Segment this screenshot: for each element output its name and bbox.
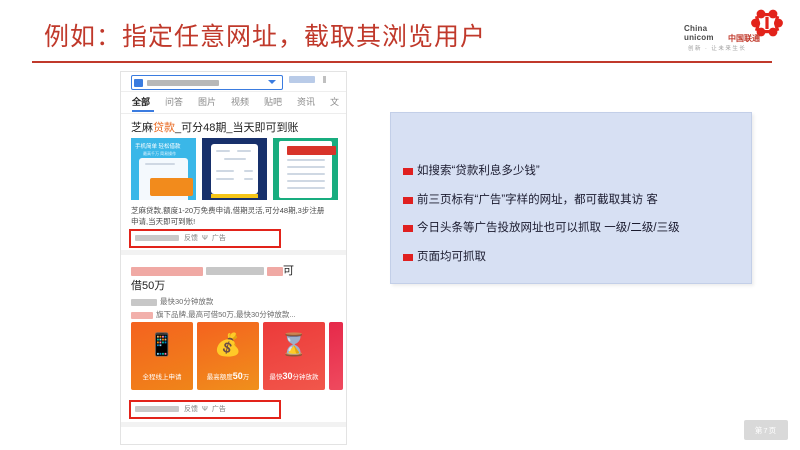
result-2-title-redacted-b bbox=[206, 267, 264, 275]
thumbnail-3-ribbon bbox=[287, 146, 336, 155]
tab-all[interactable]: 全部 bbox=[132, 95, 150, 108]
thumbnail-3-card bbox=[279, 141, 332, 198]
bullet-item-1: 前三页标有“广告”字样的网址，都可截取其访 客 bbox=[403, 193, 658, 207]
promo-card-4-partial[interactable] bbox=[329, 322, 343, 390]
bullet-text-1: 前三页标有“广告”字样的网址，都可截取其访 客 bbox=[417, 193, 658, 207]
mobile-search-bar bbox=[121, 72, 346, 92]
result-1-title[interactable]: 芝麻贷款_可分48期_当天即可到账 bbox=[131, 119, 298, 135]
result-divider-2 bbox=[121, 422, 346, 427]
logo-text-en: China unicom bbox=[684, 24, 714, 42]
tab-video[interactable]: 视频 bbox=[231, 95, 249, 108]
promo-card-2-amount: 50 bbox=[233, 371, 243, 381]
promo-card-3-label: 最快30分钟放款 bbox=[263, 371, 325, 381]
result-2-sub-line2-text: 旗下品牌,最高可借50万,最快30分钟放款... bbox=[156, 310, 296, 319]
bullet-marker-icon bbox=[403, 168, 413, 175]
tab-news[interactable]: 资讯 bbox=[297, 95, 315, 108]
promo-card-1[interactable]: 📱 全程线上申请 bbox=[131, 322, 193, 390]
bullet-text-2: 今日头条等广告投放网址也可以抓取 一级/二级/三级 bbox=[417, 221, 680, 235]
search-query-redacted bbox=[147, 80, 219, 86]
hourglass-icon: ⌛ bbox=[280, 334, 307, 356]
thumbnail-2-band bbox=[211, 194, 258, 198]
thumbnail-2[interactable] bbox=[202, 138, 267, 200]
thumbnail-1-sub: 最高千万 简易操作 bbox=[143, 151, 176, 157]
promo-card-2[interactable]: 💰 最高额度50万 bbox=[197, 322, 259, 390]
result-1-title-keyword: 贷款 bbox=[153, 122, 175, 134]
promo-card-2-label: 最高额度50万 bbox=[197, 371, 259, 381]
ad-label-highlight-box-1: 反馈Ψ广告 bbox=[129, 229, 281, 248]
ad-separator-1: Ψ bbox=[202, 235, 208, 242]
result-2-sub-redacted-b bbox=[131, 312, 153, 319]
bullet-item-0: 如搜索“贷款利息多少钱” bbox=[403, 164, 540, 178]
logo-text-cn: 中国联通 bbox=[728, 33, 760, 44]
result-2-title-line2[interactable]: 借50万 bbox=[131, 277, 165, 293]
more-dots-icon[interactable] bbox=[323, 76, 326, 83]
ad-label-row-1: 反馈Ψ广告 bbox=[135, 233, 226, 243]
page-title: 例如：指定任意网址，截取其浏览用户 bbox=[44, 21, 486, 53]
promo-card-2-prefix: 最高额度 bbox=[207, 374, 233, 381]
search-button[interactable] bbox=[289, 76, 315, 83]
page-watermark: 第7页 bbox=[744, 420, 788, 440]
result-1-description-line2: 申请,当天即可到账! bbox=[131, 216, 195, 227]
bullet-marker-icon bbox=[403, 254, 413, 261]
thumbnail-1-promo bbox=[150, 178, 193, 196]
result-2-sub-line1: 最快30分钟放款 bbox=[131, 296, 213, 307]
result-1-description-line1: 芝麻贷款,额度1-20万免费申请,借期灵活,可分48期,3步注册 bbox=[131, 205, 324, 216]
result-2-promo-cards: 📱 全程线上申请 💰 最高额度50万 ⌛ 最快30分钟放款 bbox=[131, 322, 341, 390]
tab-images[interactable]: 图片 bbox=[198, 95, 216, 108]
ad-label-row-2: 反馈Ψ广告 bbox=[135, 404, 226, 414]
result-1-title-prefix: 芝麻 bbox=[131, 122, 153, 134]
bullet-text-0: 如搜索“贷款利息多少钱” bbox=[417, 164, 540, 178]
result-divider-1 bbox=[121, 250, 346, 255]
ad-label-highlight-box-2: 反馈Ψ广告 bbox=[129, 400, 281, 419]
money-bag-icon: 💰 bbox=[214, 334, 241, 356]
result-2-title-redacted-a bbox=[131, 267, 203, 276]
thumbnail-1[interactable]: 手机简单 轻松借款 最高千万 简易操作 bbox=[131, 138, 196, 200]
promo-card-3[interactable]: ⌛ 最快30分钟放款 bbox=[263, 322, 325, 390]
feedback-link-1[interactable]: 反馈 bbox=[184, 235, 198, 242]
china-unicom-logo: China unicom 中国联通 创新 · 让未来生长 bbox=[682, 8, 786, 56]
ad-flag-1: 广告 bbox=[212, 235, 226, 242]
content-panel: 如搜索“贷款利息多少钱” 前三页标有“广告”字样的网址，都可截取其访 客 今日头… bbox=[390, 112, 752, 284]
feedback-link-2[interactable]: 反馈 bbox=[184, 406, 198, 413]
phone-screenshot-image: 全部 问答 图片 视频 贴吧 资讯 文 芝麻贷款_可分48期_当天即可到账 手机… bbox=[120, 71, 347, 445]
slide-canvas: 例如：指定任意网址，截取其浏览用户 China unicom bbox=[0, 0, 800, 450]
result-2-sub-line2: 旗下品牌,最高可借50万,最快30分钟放款... bbox=[131, 309, 296, 320]
serp-tab-bar: 全部 问答 图片 视频 贴吧 资讯 文 bbox=[121, 91, 346, 114]
logo-slogan: 创新 · 让未来生长 bbox=[688, 44, 746, 52]
thumbnail-1-headline: 手机简单 轻松借款 bbox=[135, 142, 181, 150]
result-1-title-suffix: _可分48期_当天即可到账 bbox=[175, 122, 298, 134]
logo-text-en-line1: China bbox=[684, 24, 714, 33]
bullet-item-3: 页面均可抓取 bbox=[403, 250, 486, 264]
phone-coins-icon: 📱 bbox=[148, 334, 175, 356]
search-input[interactable] bbox=[131, 75, 283, 90]
ad-source-redacted-2 bbox=[135, 406, 179, 412]
result-2-title-suffix: 可 bbox=[283, 265, 294, 277]
result-2-title-redacted-c bbox=[267, 267, 283, 276]
promo-card-2-suffix: 万 bbox=[243, 374, 250, 381]
promo-card-1-label: 全程线上申请 bbox=[131, 371, 193, 381]
bullet-marker-icon bbox=[403, 225, 413, 232]
bullet-item-2: 今日头条等广告投放网址也可以抓取 一级/二级/三级 bbox=[403, 221, 680, 235]
promo-card-3-amount: 30 bbox=[282, 371, 292, 381]
title-divider bbox=[32, 61, 772, 63]
thumbnail-3[interactable] bbox=[273, 138, 338, 200]
tab-docs[interactable]: 文 bbox=[330, 95, 339, 108]
result-1-thumbnails: 手机简单 轻松借款 最高千万 简易操作 bbox=[131, 138, 339, 200]
result-2-sub-redacted-a bbox=[131, 299, 157, 306]
tab-qa[interactable]: 问答 bbox=[165, 95, 183, 108]
baidu-icon bbox=[134, 79, 143, 87]
thumbnail-2-card bbox=[211, 144, 258, 194]
tab-active-indicator bbox=[132, 110, 154, 112]
bullet-text-3: 页面均可抓取 bbox=[417, 250, 486, 264]
chevron-down-icon[interactable] bbox=[268, 80, 276, 84]
thumbnail-1-card bbox=[139, 158, 188, 200]
ad-separator-2: Ψ bbox=[202, 406, 208, 413]
ad-source-redacted-1 bbox=[135, 235, 179, 241]
promo-card-3-prefix: 最快 bbox=[269, 374, 282, 381]
ad-flag-2: 广告 bbox=[212, 406, 226, 413]
bullet-marker-icon bbox=[403, 197, 413, 204]
result-2-title-line1[interactable]: 可 bbox=[131, 262, 294, 278]
tab-tieba[interactable]: 贴吧 bbox=[264, 95, 282, 108]
logo-text-en-line2: unicom bbox=[684, 33, 714, 42]
result-2-sub-line1-text: 最快30分钟放款 bbox=[160, 297, 213, 306]
promo-card-3-suffix: 分钟放款 bbox=[293, 374, 319, 381]
